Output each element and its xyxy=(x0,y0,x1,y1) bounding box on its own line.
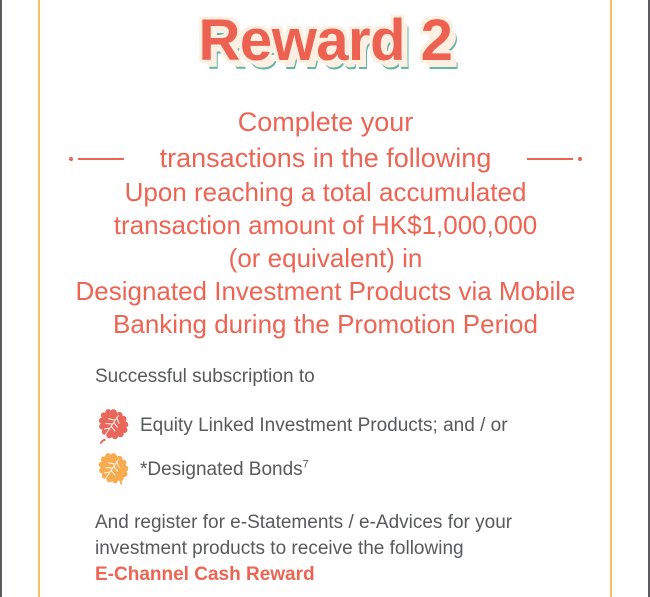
registration-note-line-2: investment products to receive the follo… xyxy=(95,538,464,559)
list-item-text: *Designated Bonds xyxy=(140,459,303,480)
dot-icon xyxy=(578,157,582,161)
registration-note: And register for e-Statements / e-Advice… xyxy=(95,510,615,588)
orange-leaf-icon xyxy=(95,451,129,489)
title-text: Reward 2 xyxy=(199,12,453,70)
statement-line-4: Designated Investment Products via Mobil… xyxy=(75,276,575,306)
subheading: Complete your transactions in the follow… xyxy=(41,104,610,176)
qualification-statement: Upon reaching a total accumulated transa… xyxy=(41,176,610,341)
page-title: Reward 2 Reward 2 xyxy=(41,12,610,90)
line-icon xyxy=(527,158,573,160)
footnote-marker: 7 xyxy=(303,459,309,471)
frame-rule-left xyxy=(38,0,40,597)
subheading-line-2: transactions in the following xyxy=(160,143,492,173)
list-item-label: *Designated Bonds7 xyxy=(140,458,309,482)
subheading-line-2-row: transactions in the following xyxy=(41,140,610,176)
requirements-lead: Successful subscription to xyxy=(95,364,615,390)
reward-promo-card: Reward 2 Reward 2 Complete your transact… xyxy=(0,0,650,597)
decorative-rule-right xyxy=(527,157,582,161)
list-item-label: Equity Linked Investment Products; and /… xyxy=(140,414,508,438)
statement-line-1: Upon reaching a total accumulated xyxy=(125,177,527,207)
dot-icon xyxy=(69,157,73,161)
line-icon xyxy=(78,158,124,160)
decorative-rule-left xyxy=(69,157,124,161)
subheading-line-1: Complete your xyxy=(238,107,414,137)
statement-line-3: (or equivalent) in xyxy=(229,243,423,273)
page-edge-left xyxy=(0,0,2,597)
reward-name-highlight: E-Channel Cash Reward xyxy=(95,562,615,588)
list-item: *Designated Bonds7 xyxy=(95,448,615,492)
requirements-block: Successful subscription to xyxy=(95,364,615,588)
red-leaf-icon xyxy=(95,407,129,445)
registration-note-line-1: And register for e-Statements / e-Advice… xyxy=(95,512,512,533)
list-item: Equity Linked Investment Products; and /… xyxy=(95,404,615,448)
statement-line-2: transaction amount of HK$1,000,000 xyxy=(114,210,538,240)
statement-line-5: Banking during the Promotion Period xyxy=(113,309,538,339)
card-content: Reward 2 Reward 2 Complete your transact… xyxy=(41,0,610,597)
product-list: Equity Linked Investment Products; and /… xyxy=(95,404,615,492)
